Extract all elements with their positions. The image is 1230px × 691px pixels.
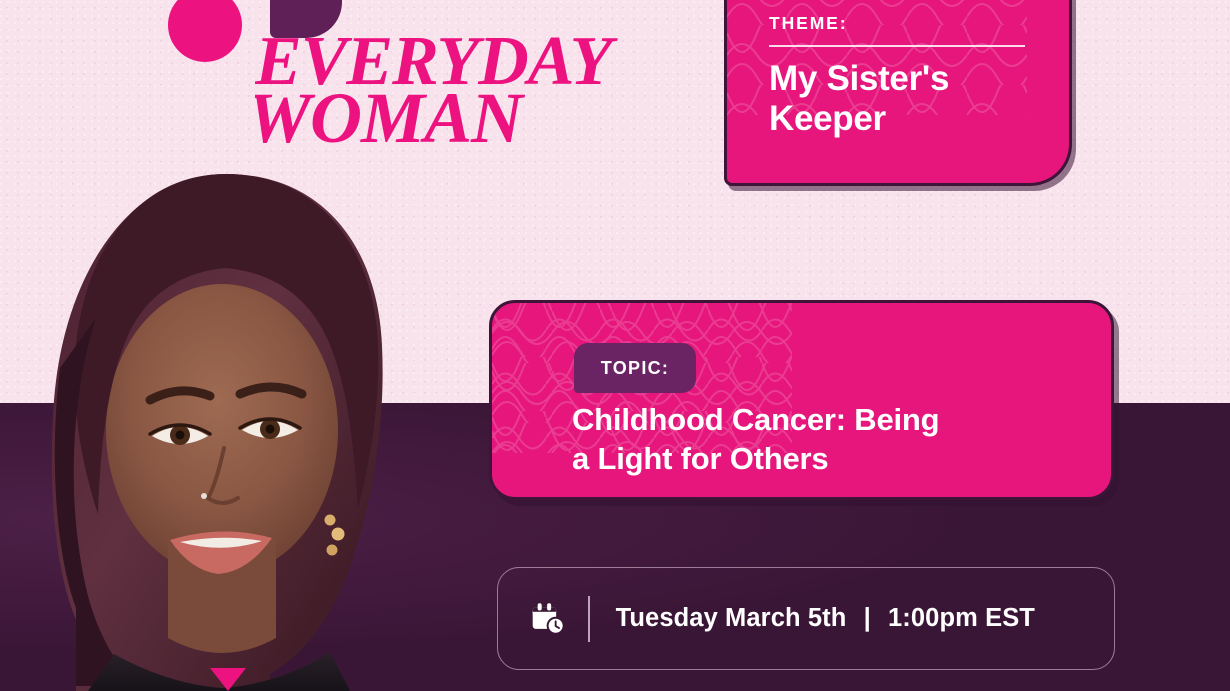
promo-graphic: EVERYDAY WOMAN SERIES THEME: My Sister's… bbox=[0, 0, 1230, 691]
speaker-portrait bbox=[18, 168, 438, 691]
theme-title: My Sister's Keeper bbox=[769, 59, 1069, 140]
topic-card: TOPIC: Childhood Cancer: Being a Light f… bbox=[489, 300, 1114, 500]
theme-divider bbox=[769, 45, 1025, 47]
brand-logo: EVERYDAY WOMAN SERIES bbox=[160, 0, 690, 173]
topic-badge-label: TOPIC: bbox=[601, 358, 669, 379]
schedule-date: Tuesday March 5th bbox=[616, 604, 847, 632]
theme-label: THEME: bbox=[769, 13, 1069, 34]
topic-badge: TOPIC: bbox=[574, 343, 696, 393]
theme-card: THEME: My Sister's Keeper bbox=[724, 0, 1072, 186]
schedule-separator: | bbox=[854, 604, 881, 632]
everyday-woman-wordmark: EVERYDAY WOMAN bbox=[255, 26, 715, 156]
topic-title-line-1: Childhood Cancer: Being bbox=[572, 401, 1092, 440]
schedule-time: 1:00pm EST bbox=[888, 604, 1035, 632]
theme-title-line-2: Keeper bbox=[769, 99, 1069, 140]
theme-title-line-1: My Sister's bbox=[769, 59, 1069, 100]
schedule-divider bbox=[588, 596, 590, 642]
topic-title: Childhood Cancer: Being a Light for Othe… bbox=[572, 401, 1092, 479]
schedule-text: Tuesday March 5th | 1:00pm EST bbox=[616, 604, 1035, 633]
schedule-bar: Tuesday March 5th | 1:00pm EST bbox=[497, 567, 1115, 670]
wordmark-line-2: WOMAN bbox=[255, 78, 526, 156]
calendar-clock-icon bbox=[530, 601, 566, 637]
nose-stud-icon bbox=[201, 493, 207, 499]
pupil-left bbox=[176, 431, 185, 440]
decorative-pink-circle-icon bbox=[168, 0, 242, 62]
topic-title-line-2: a Light for Others bbox=[572, 440, 1092, 479]
pupil-right bbox=[266, 425, 275, 434]
